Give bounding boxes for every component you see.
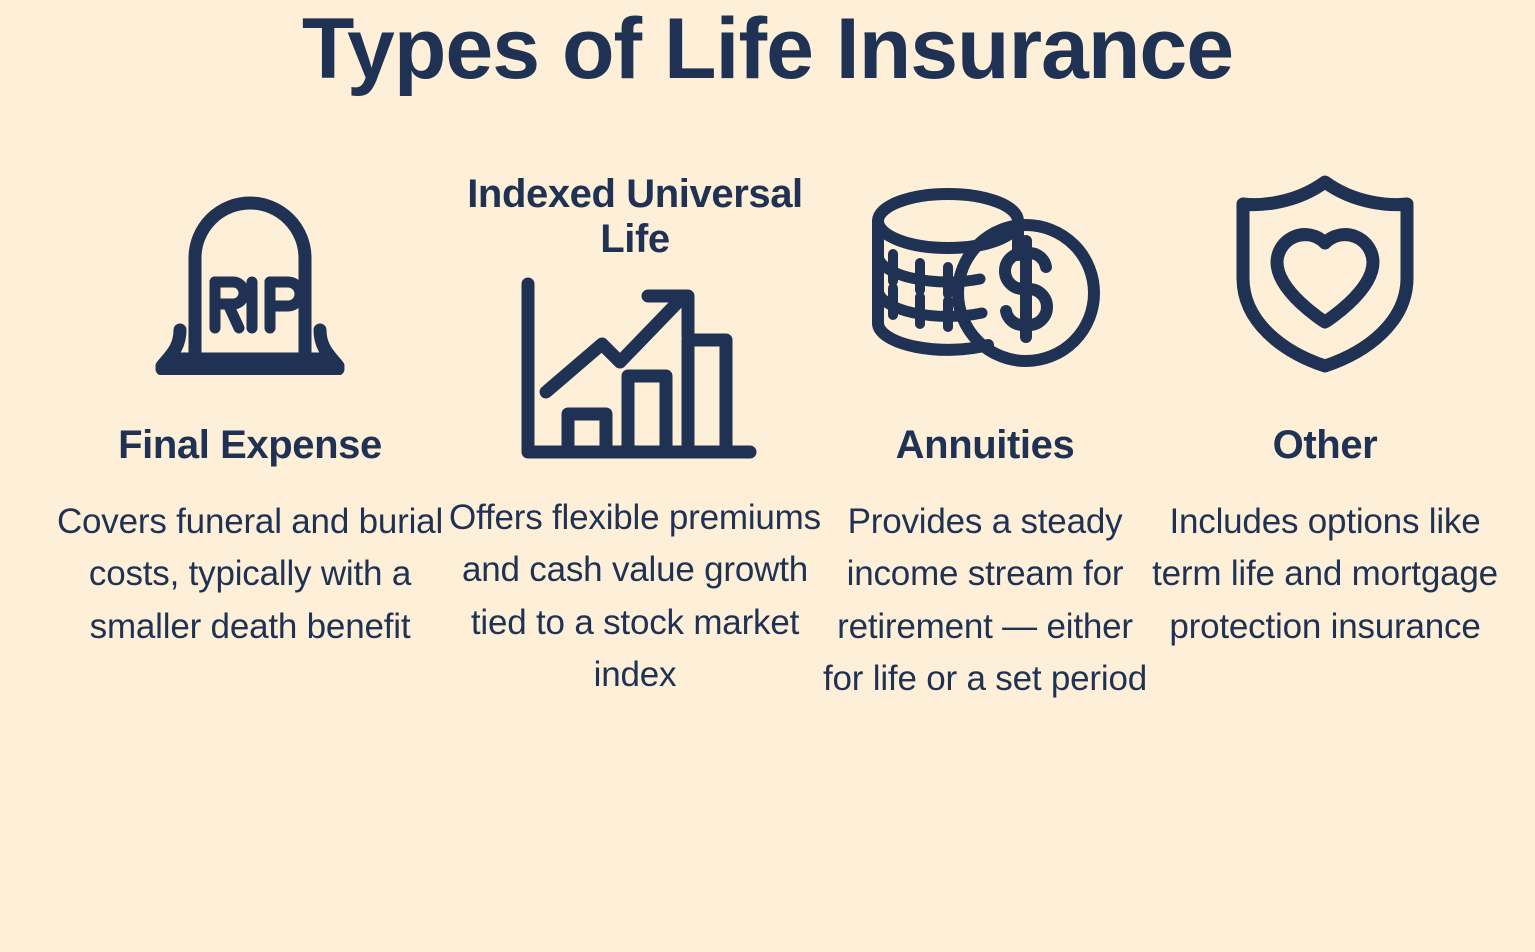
card-title-indexed-universal-life: Indexed Universal Life: [440, 172, 830, 262]
card-title-final-expense: Final Expense: [55, 423, 445, 468]
card-description-annuities: Provides a steady income stream for reti…: [820, 496, 1150, 706]
card-title-annuities: Annuities: [820, 423, 1150, 468]
card-title-other: Other: [1145, 423, 1505, 468]
card-indexed-universal-life: Indexed Universal Life Offers flexible p…: [440, 160, 830, 702]
insurance-type-columns: Final Expense Covers funeral and burial …: [0, 160, 1535, 860]
card-annuities: Annuities Provides a steady income strea…: [820, 160, 1150, 706]
card-description-indexed-universal-life: Offers flexible premiums and cash value …: [440, 492, 830, 702]
card-other: Other Includes options like term life an…: [1145, 160, 1505, 653]
card-final-expense: Final Expense Covers funeral and burial …: [55, 160, 445, 653]
bar-chart-growth-icon: [440, 284, 830, 464]
card-description-final-expense: Covers funeral and burial costs, typical…: [55, 496, 445, 654]
card-description-other: Includes options like term life and mort…: [1145, 496, 1505, 654]
shield-heart-icon: [1145, 160, 1505, 375]
coin-stack-dollar-icon: [820, 160, 1150, 375]
page-title: Types of Life Insurance: [0, 2, 1535, 97]
tombstone-icon: [55, 160, 445, 375]
